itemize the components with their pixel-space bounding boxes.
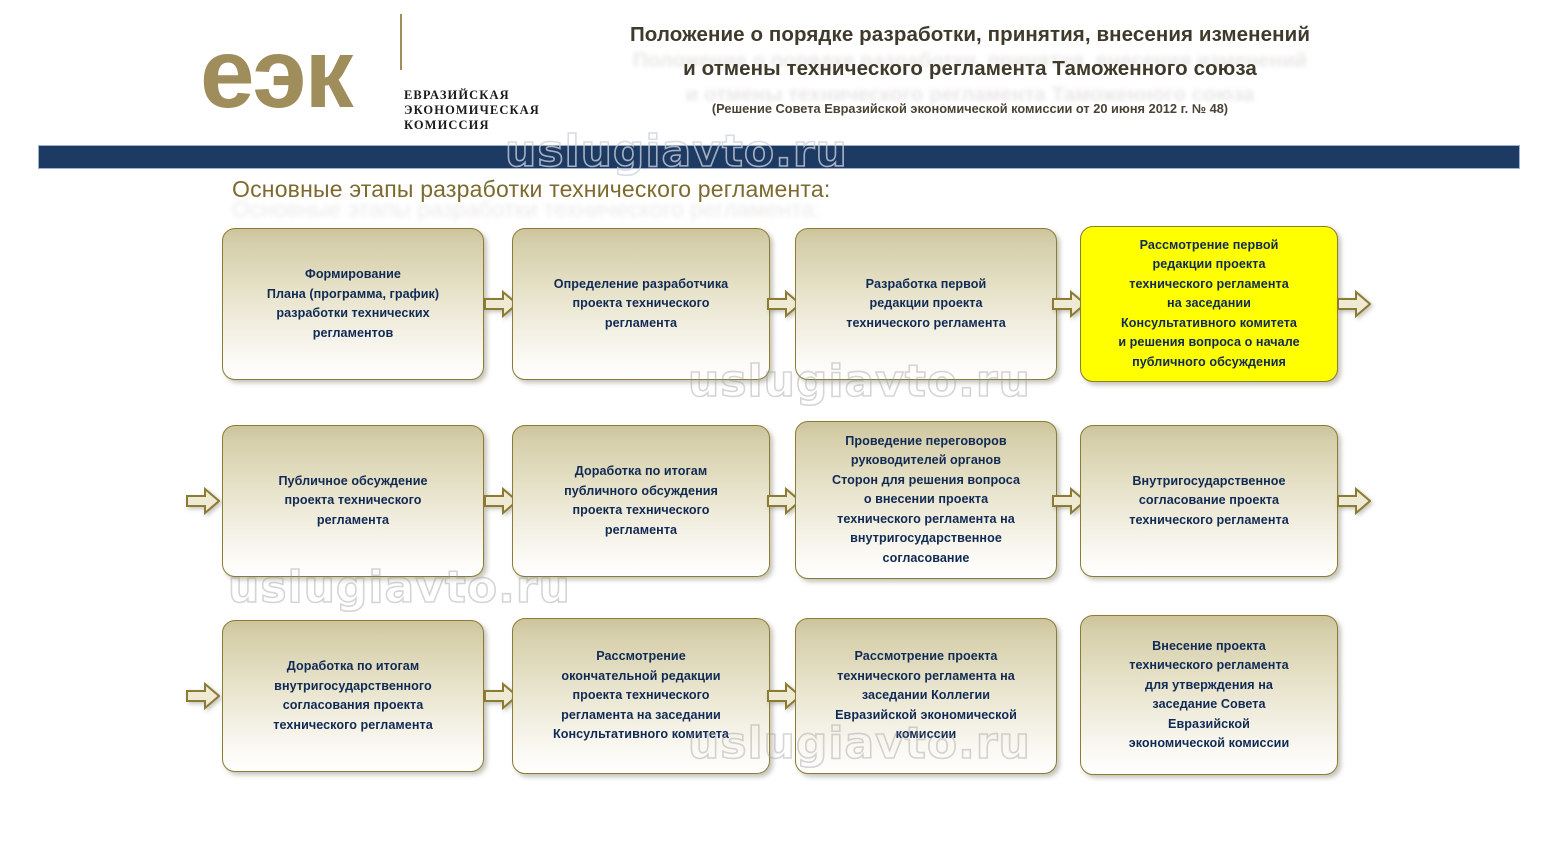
flow-step-label: Внутригосударственное согласование проек… bbox=[1129, 472, 1289, 531]
flow-step-label: Разработка первой редакции проекта техни… bbox=[846, 275, 1006, 334]
process-flow-diagram: Формирование Плана (программа, график) р… bbox=[0, 0, 1545, 861]
flow-arrow-5 bbox=[186, 487, 220, 515]
flow-step-4[interactable]: Рассмотрение первой редакции проекта тех… bbox=[1080, 226, 1338, 382]
flow-step-7[interactable]: Проведение переговоров руководителей орг… bbox=[795, 421, 1057, 579]
flow-arrow-10 bbox=[186, 682, 220, 710]
flow-arrow-9 bbox=[1337, 487, 1371, 515]
flow-step-label: Внесение проекта технического регламента… bbox=[1129, 637, 1290, 754]
flow-step-8[interactable]: Внутригосударственное согласование проек… bbox=[1080, 425, 1338, 577]
flow-step-9[interactable]: Доработка по итогам внутригосударственно… bbox=[222, 620, 484, 772]
flow-step-label: Формирование Плана (программа, график) р… bbox=[267, 265, 439, 343]
flow-step-label: Доработка по итогам публичного обсуждени… bbox=[564, 462, 718, 540]
flow-step-label: Доработка по итогам внутригосударственно… bbox=[273, 657, 433, 735]
flow-step-2[interactable]: Определение разработчика проекта техниче… bbox=[512, 228, 770, 380]
flow-step-11[interactable]: Рассмотрение проекта технического реглам… bbox=[795, 618, 1057, 774]
flow-step-6[interactable]: Доработка по итогам публичного обсуждени… bbox=[512, 425, 770, 577]
flow-step-label: Проведение переговоров руководителей орг… bbox=[832, 432, 1020, 569]
flow-step-10[interactable]: Рассмотрение окончательной редакции прое… bbox=[512, 618, 770, 774]
flow-step-label: Рассмотрение первой редакции проекта тех… bbox=[1118, 236, 1299, 373]
flow-step-1[interactable]: Формирование Плана (программа, график) р… bbox=[222, 228, 484, 380]
flow-arrow-4 bbox=[1337, 290, 1371, 318]
flow-step-3[interactable]: Разработка первой редакции проекта техни… bbox=[795, 228, 1057, 380]
flow-step-5[interactable]: Публичное обсуждение проекта техническог… bbox=[222, 425, 484, 577]
flow-step-label: Публичное обсуждение проекта техническог… bbox=[278, 472, 427, 531]
flow-step-label: Рассмотрение проекта технического реглам… bbox=[835, 647, 1017, 745]
flow-step-label: Определение разработчика проекта техниче… bbox=[554, 275, 728, 334]
flow-step-12[interactable]: Внесение проекта технического регламента… bbox=[1080, 615, 1338, 775]
flow-step-label: Рассмотрение окончательной редакции прое… bbox=[553, 647, 729, 745]
